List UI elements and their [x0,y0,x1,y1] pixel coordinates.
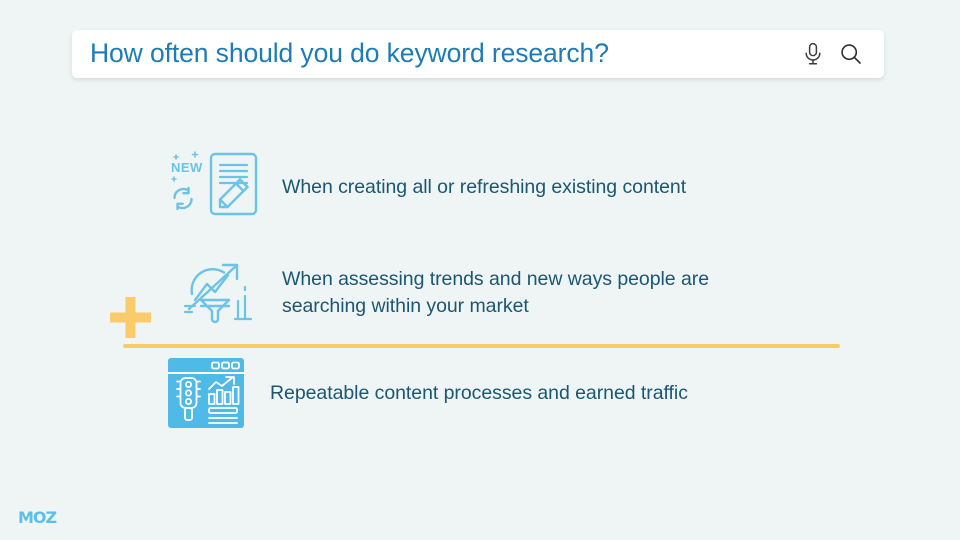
new-document-refresh-icon: NEW [168,150,262,224]
bullet-row-2: When assessing trends and new ways peopl… [183,256,782,330]
search-icon[interactable] [836,39,866,69]
bullet-text-3: Repeatable content processes and earned … [270,380,688,407]
moz-wordmark: MOZ [18,510,56,526]
bullet-row-3: Repeatable content processes and earned … [168,358,688,428]
browser-traffic-chart-icon [168,358,244,428]
bullet-row-1: NEW When creating all or refreshin [168,150,686,224]
microphone-icon[interactable] [798,39,828,69]
plus-icon [108,295,153,340]
moz-logo: MOZ [18,509,74,527]
svg-text:NEW: NEW [171,160,203,175]
bullet-text-2: When assessing trends and new ways peopl… [282,266,782,320]
accent-underline [123,344,840,348]
search-input[interactable]: How often should you do keyword research… [90,40,798,69]
trend-analysis-icon [183,256,257,330]
bullet-text-2-line-2: searching within your market [282,295,529,317]
bullet-text-2-line-1: When assessing trends and new ways peopl… [282,268,709,290]
search-bar[interactable]: How often should you do keyword research… [72,30,884,78]
bullet-text-1: When creating all or refreshing existing… [282,174,686,201]
